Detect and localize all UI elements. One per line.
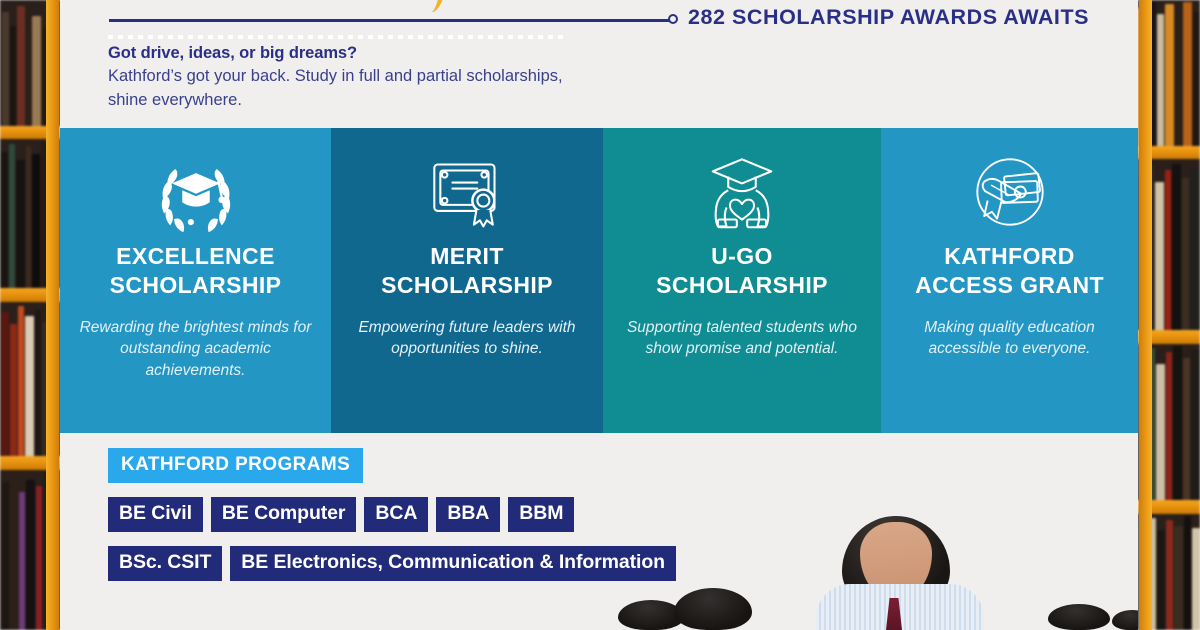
- card-title-line-1: MERIT: [430, 243, 504, 269]
- graduation-cap-laurel-icon: [153, 152, 239, 232]
- hands-heart-cap-icon: [699, 152, 785, 232]
- tagline-heading: Got drive, ideas, or big dreams?: [108, 42, 728, 65]
- tagline-line-2: shine everywhere.: [108, 89, 728, 112]
- card-title-line-2: SCHOLARSHIP: [656, 272, 828, 298]
- card-title-line-1: KATHFORD: [944, 243, 1075, 269]
- program-tag[interactable]: BE Civil: [108, 497, 203, 532]
- shelf-post-left: [46, 0, 59, 630]
- student-head: [674, 588, 752, 630]
- card-title: KATHFORD ACCESS GRANT: [915, 242, 1104, 301]
- programs-row-2: BSc. CSIT BE Electronics, Communication …: [108, 546, 868, 581]
- card-title-line-2: SCHOLARSHIP: [381, 272, 553, 298]
- diploma-money-circle-icon: [967, 152, 1053, 232]
- programs-row-1: BE Civil BE Computer BCA BBA BBM: [108, 497, 868, 532]
- dotted-divider: [108, 35, 568, 39]
- tagline-block: Got drive, ideas, or big dreams? Kathfor…: [108, 42, 728, 112]
- student-shirt: [816, 584, 984, 630]
- student-head: [826, 596, 898, 630]
- header: 282 SCHOLARSHIP AWARDS AWAITS Got drive,…: [60, 0, 1138, 128]
- programs-badge: KATHFORD PROGRAMS: [108, 448, 363, 483]
- student-head: [1048, 604, 1110, 630]
- scholarship-card-band: EXCELLENCE SCHOLARSHIP Rewarding the bri…: [60, 128, 1138, 433]
- program-tag[interactable]: BE Computer: [211, 497, 357, 532]
- header-rule: [109, 19, 671, 22]
- scholarship-card-access-grant[interactable]: KATHFORD ACCESS GRANT Making quality edu…: [881, 128, 1138, 433]
- scholarship-card-excellence[interactable]: EXCELLENCE SCHOLARSHIP Rewarding the bri…: [60, 128, 331, 433]
- student-tie: [886, 598, 902, 630]
- card-title-line-1: U-GO: [711, 243, 773, 269]
- card-title-line-2: SCHOLARSHIP: [110, 272, 282, 298]
- student-head: [618, 600, 684, 630]
- card-title: EXCELLENCE SCHOLARSHIP: [110, 242, 282, 301]
- programs-section: KATHFORD PROGRAMS BE Civil BE Computer B…: [108, 448, 868, 581]
- header-rule-endpoint-icon: [668, 14, 678, 24]
- card-title-line-2: ACCESS GRANT: [915, 272, 1104, 298]
- student-face: [860, 522, 932, 600]
- accent-swoosh-icon: [415, 0, 445, 14]
- awards-count-label: 282 SCHOLARSHIP AWARDS AWAITS: [688, 5, 1089, 30]
- shelf-post-right: [1139, 0, 1152, 630]
- scholarship-card-ugo[interactable]: U-GO SCHOLARSHIP Supporting talented stu…: [603, 128, 881, 433]
- program-tag[interactable]: BBA: [436, 497, 500, 532]
- program-tag[interactable]: BSc. CSIT: [108, 546, 222, 581]
- card-title: MERIT SCHOLARSHIP: [381, 242, 553, 301]
- poster-canvas: 282 SCHOLARSHIP AWARDS AWAITS Got drive,…: [60, 0, 1138, 630]
- card-description: Making quality education accessible to e…: [899, 317, 1120, 360]
- student-head: [1112, 610, 1138, 630]
- scholarship-card-merit[interactable]: MERIT SCHOLARSHIP Empowering future lead…: [331, 128, 603, 433]
- program-tag[interactable]: BCA: [364, 497, 428, 532]
- card-title-line-1: EXCELLENCE: [116, 243, 275, 269]
- card-description: Empowering future leaders with opportuni…: [350, 317, 584, 360]
- card-description: Rewarding the brightest minds for outsta…: [79, 317, 312, 381]
- program-tag[interactable]: BBM: [508, 497, 574, 532]
- tagline-line-1: Kathford’s got your back. Study in full …: [108, 65, 728, 88]
- program-tag[interactable]: BE Electronics, Communication & Informat…: [230, 546, 676, 581]
- certificate-ribbon-icon: [424, 152, 510, 232]
- card-title: U-GO SCHOLARSHIP: [656, 242, 828, 301]
- card-description: Supporting talented students who show pr…: [622, 317, 861, 360]
